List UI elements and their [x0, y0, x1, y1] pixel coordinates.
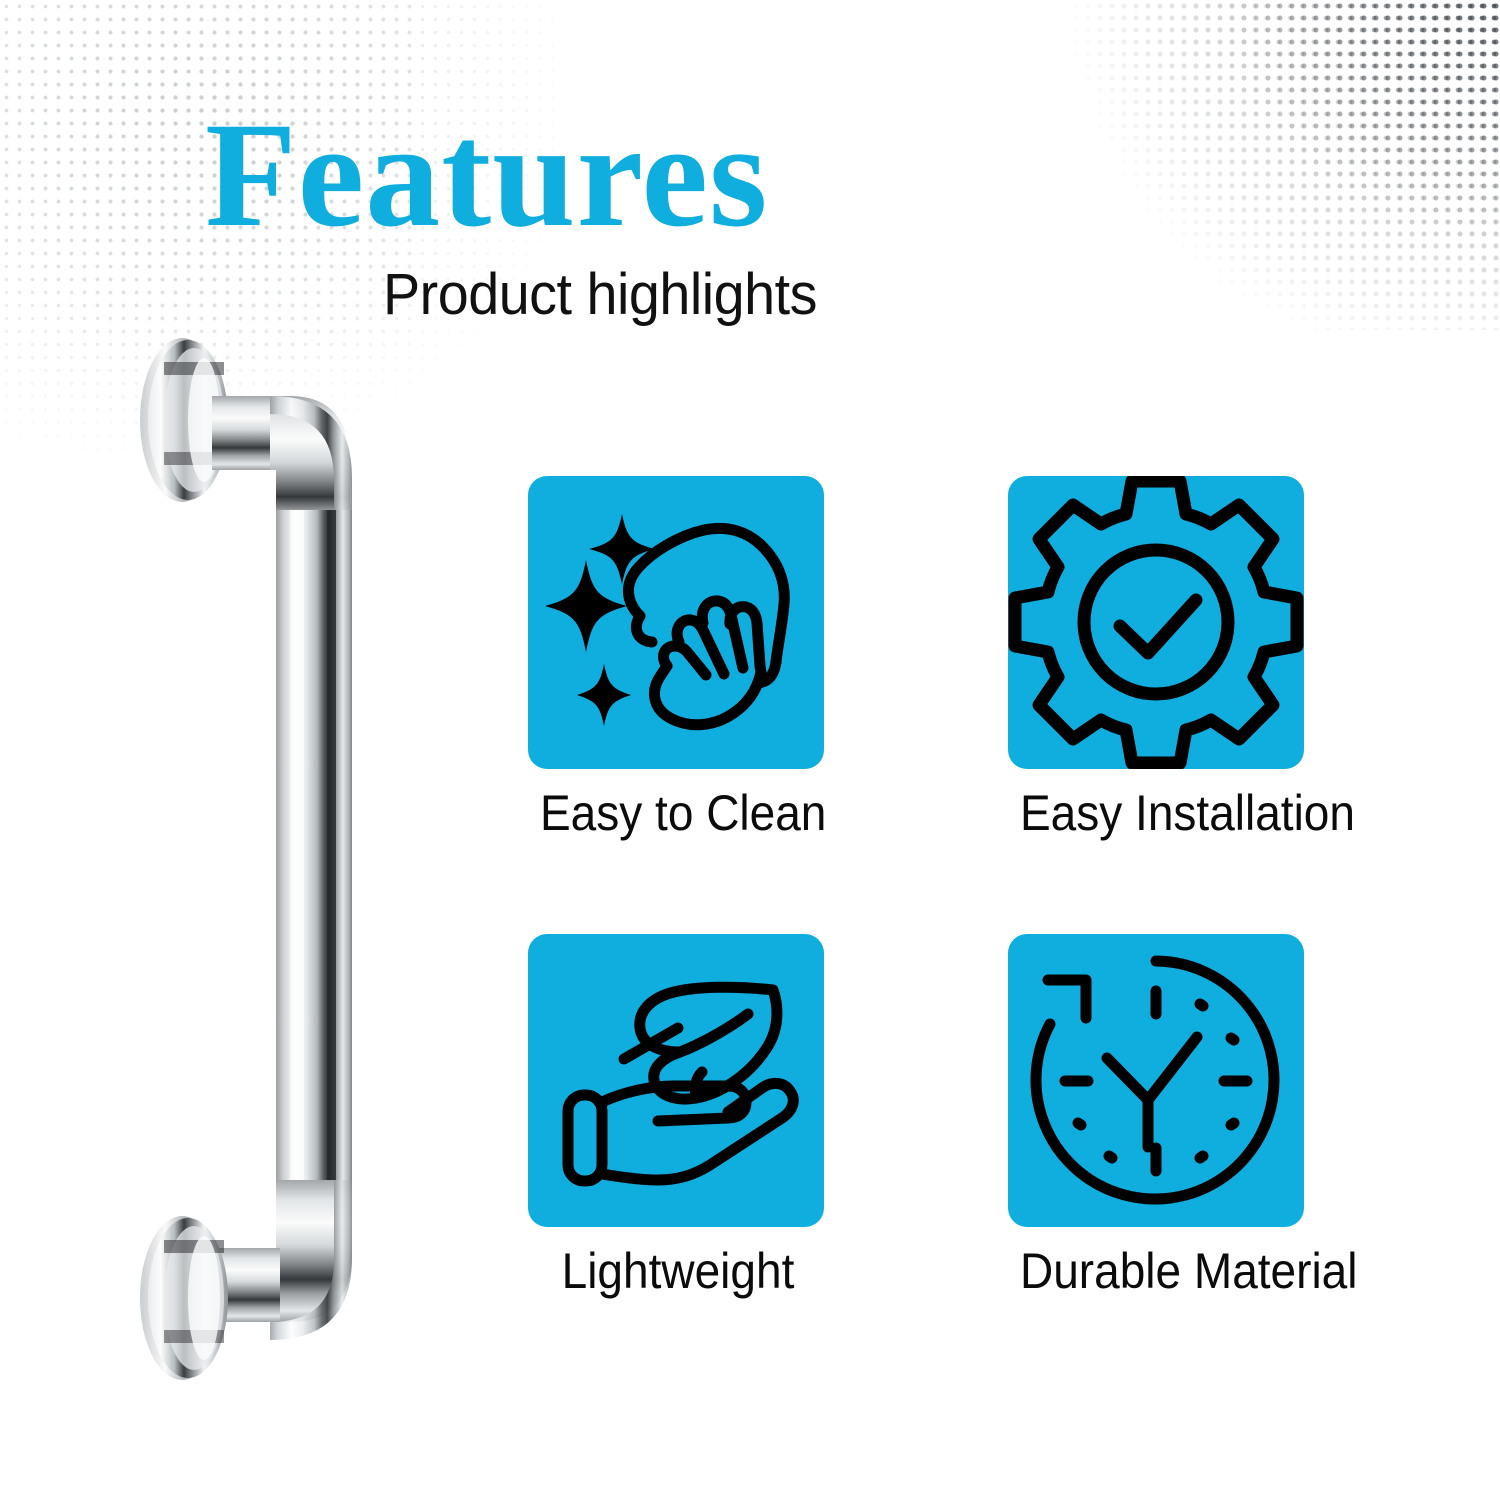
grab-bar-bottom-flange: [140, 1216, 228, 1380]
page-title: Features: [205, 100, 768, 250]
feature-card-easy-to-clean: Easy to Clean: [528, 476, 828, 840]
feature-card-easy-installation: Easy Installation: [1008, 476, 1308, 840]
feature-card-lightweight: Lightweight: [528, 934, 828, 1298]
feature-label: Easy to Clean: [540, 787, 816, 840]
feature-infographic: Features Product highlights: [0, 0, 1500, 1500]
feature-label: Lightweight: [540, 1245, 816, 1298]
halftone-dots-top-right: [1070, 0, 1500, 330]
page-subtitle: Product highlights: [383, 266, 817, 324]
halftone-dots-top-right-dense: [1200, 0, 1500, 230]
feature-grid: Easy to Clean Easy Installation: [528, 476, 1328, 1306]
gear-check-icon: [1008, 476, 1304, 769]
clock-arrow-icon: [1008, 934, 1304, 1227]
feature-card-durable-material: Durable Material: [1008, 934, 1308, 1298]
wipe-hand-sparkle-icon: [528, 476, 824, 769]
feature-label: Easy Installation: [1020, 787, 1296, 840]
feather-hand-icon: [528, 934, 824, 1227]
feature-label: Durable Material: [1020, 1245, 1296, 1298]
product-image-grab-bar: [120, 300, 410, 1420]
